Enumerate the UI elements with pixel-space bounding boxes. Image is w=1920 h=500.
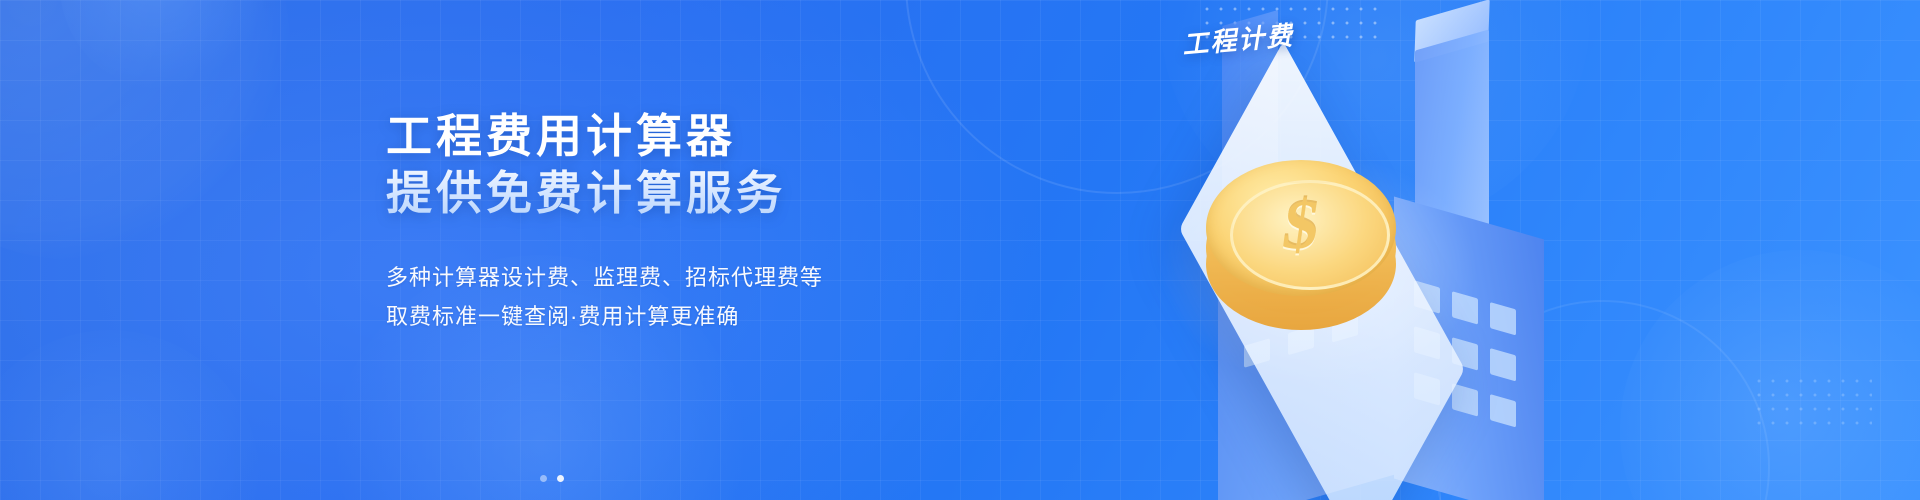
building-window: [1490, 394, 1516, 427]
banner-title-line-1: 工程费用计算器: [386, 108, 1006, 165]
banner-subtitle: 多种计算器设计费、监理费、招标代理费等 取费标准一键查阅·费用计算更准确: [386, 258, 1006, 336]
decorative-circle-bottom-left: [0, 330, 260, 500]
carousel-dot-1[interactable]: [540, 475, 547, 482]
decorative-circle-top-left: [0, 0, 290, 260]
carousel-pagination[interactable]: [540, 475, 564, 482]
banner-subtitle-line-1: 多种计算器设计费、监理费、招标代理费等: [386, 258, 1006, 297]
decorative-circle-small-top: [60, 0, 270, 90]
building-window: [1490, 348, 1516, 381]
hero-banner: 工程费用计算器 提供免费计算服务 多种计算器设计费、监理费、招标代理费等 取费标…: [0, 0, 1920, 500]
carousel-dot-2[interactable]: [557, 475, 564, 482]
banner-illustration: $ 工程计费: [1090, 0, 1920, 500]
dollar-sign-icon: $: [1200, 186, 1401, 266]
banner-title: 工程费用计算器 提供免费计算服务: [386, 108, 1006, 222]
building-window: [1452, 291, 1478, 324]
gold-coin-icon: $: [1200, 152, 1408, 338]
building-window: [1452, 383, 1478, 416]
building-window: [1490, 302, 1516, 335]
banner-text-block: 工程费用计算器 提供免费计算服务 多种计算器设计费、监理费、招标代理费等 取费标…: [386, 108, 1006, 336]
coin-top-face: $: [1206, 160, 1396, 296]
banner-subtitle-line-2: 取费标准一键查阅·费用计算更准确: [386, 297, 1006, 336]
banner-title-line-2: 提供免费计算服务: [386, 165, 1006, 222]
